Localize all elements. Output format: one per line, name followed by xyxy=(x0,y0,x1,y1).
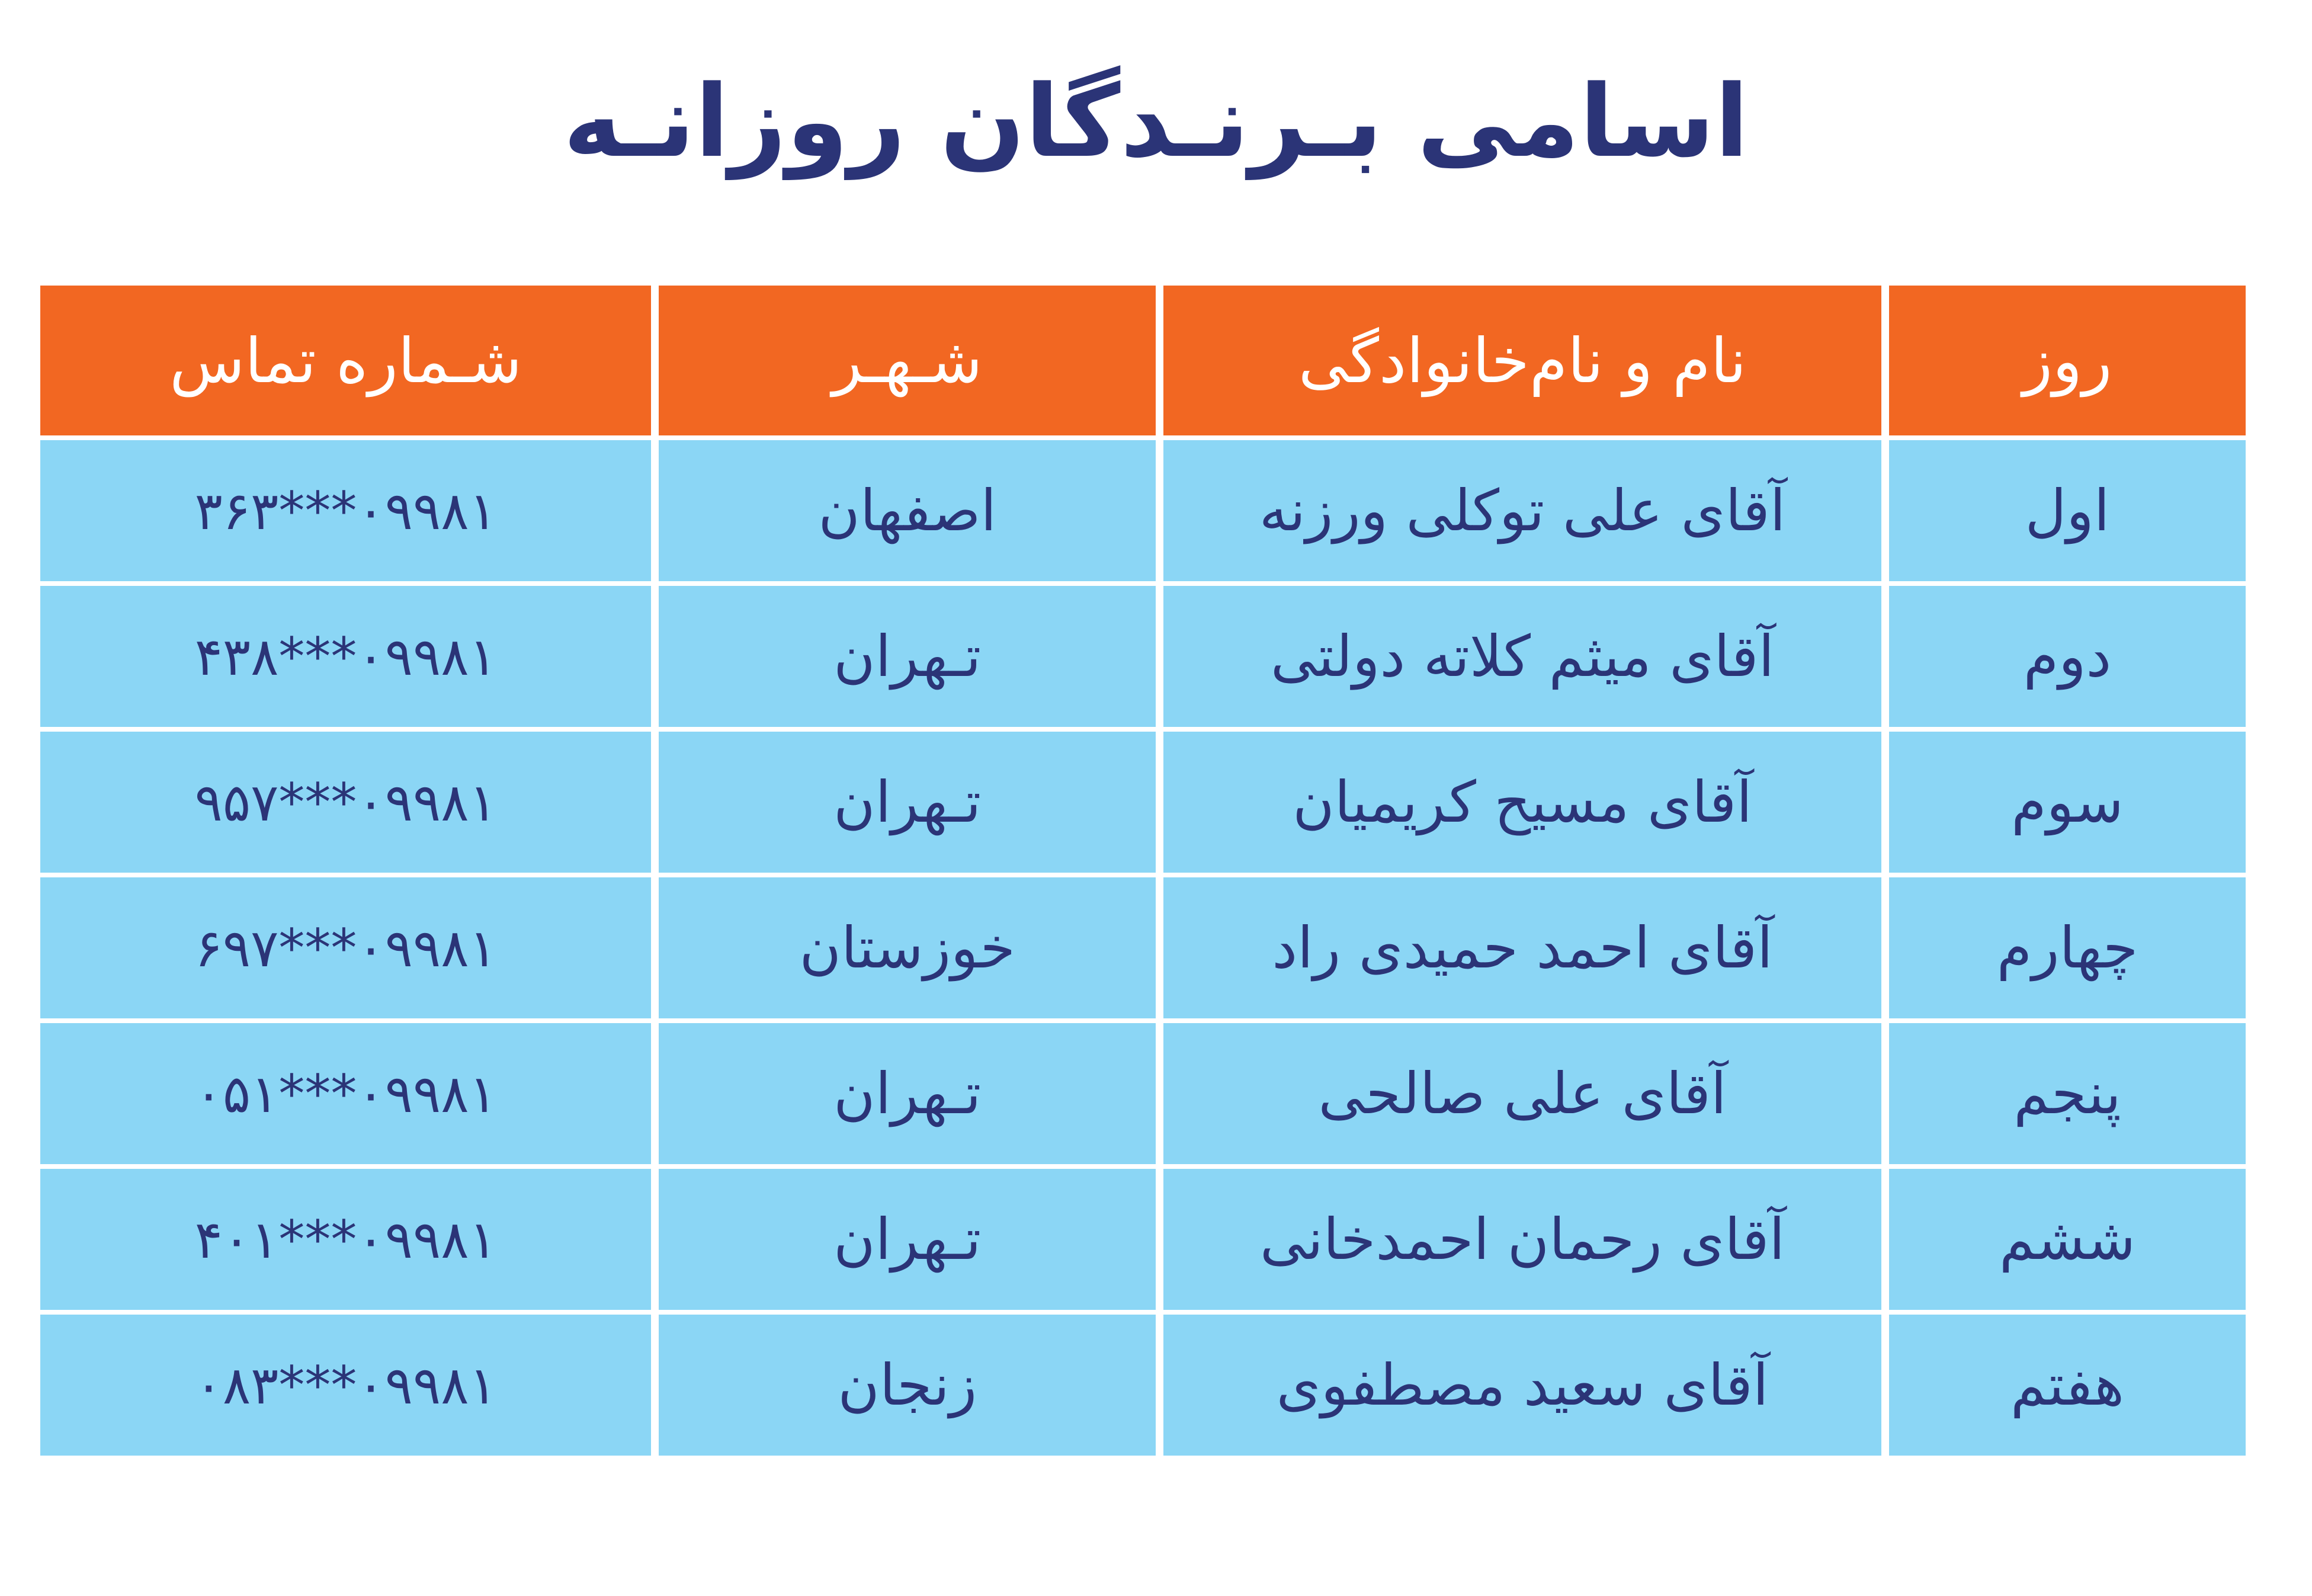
cell-city: تـهران xyxy=(659,1169,1156,1310)
column-header-city[interactable]: شـهـر xyxy=(659,286,1156,435)
cell-day: چهارم xyxy=(1889,877,2246,1018)
table-row: چهارمآقای احمد حمیدی رادخوزستان۰۹۹۸۱***۶… xyxy=(40,877,2246,1018)
column-header-day[interactable]: روز xyxy=(1889,286,2246,435)
cell-phone: ۰۹۹۸۱***۰۸۳ xyxy=(40,1315,651,1456)
cell-phone: ۰۹۹۸۱***۴۳۸ xyxy=(40,586,651,727)
table-row: دومآقای میثم کلاته دولتیتـهران۰۹۹۸۱***۴۳… xyxy=(40,586,2246,727)
daily-winners-table: روز نام و نام‌خانوادگی شـهـر شـماره تماس… xyxy=(33,281,2253,1460)
cell-phone: ۰۹۹۸۱***۰۵۱ xyxy=(40,1023,651,1164)
cell-phone: ۰۹۹۸۱***۹۵۷ xyxy=(40,732,651,873)
cell-city: تـهران xyxy=(659,1023,1156,1164)
table-row: پنجمآقای علی صالحیتـهران۰۹۹۸۱***۰۵۱ xyxy=(40,1023,2246,1164)
column-header-phone[interactable]: شـماره تماس xyxy=(40,286,651,435)
table-row: اولآقای علی توکلی ورزنهاصفهان۰۹۹۸۱***۳۶۳ xyxy=(40,440,2246,581)
cell-city: تـهران xyxy=(659,586,1156,727)
cell-city: تـهران xyxy=(659,732,1156,873)
table-row: هفتمآقای سعید مصطفویزنجان۰۹۹۸۱***۰۸۳ xyxy=(40,1315,2246,1456)
cell-name: آقای رحمان احمدخانی xyxy=(1163,1169,1881,1310)
cell-city: زنجان xyxy=(659,1315,1156,1456)
cell-name: آقای احمد حمیدی راد xyxy=(1163,877,1881,1018)
cell-day: هفتم xyxy=(1889,1315,2246,1456)
table-head: روز نام و نام‌خانوادگی شـهـر شـماره تماس xyxy=(40,286,2246,435)
cell-name: آقای علی صالحی xyxy=(1163,1023,1881,1164)
cell-name: آقای سعید مصطفوی xyxy=(1163,1315,1881,1456)
cell-day: سوم xyxy=(1889,732,2246,873)
cell-name: آقای مسیح کریمیان xyxy=(1163,732,1881,873)
cell-phone: ۰۹۹۸۱***۶۹۷ xyxy=(40,877,651,1018)
cell-day: پنجم xyxy=(1889,1023,2246,1164)
table-body: اولآقای علی توکلی ورزنهاصفهان۰۹۹۸۱***۳۶۳… xyxy=(40,440,2246,1456)
table-header-row: روز نام و نام‌خانوادگی شـهـر شـماره تماس xyxy=(40,286,2246,435)
cell-phone: ۰۹۹۸۱***۴۰۱ xyxy=(40,1169,651,1310)
cell-city: خوزستان xyxy=(659,877,1156,1018)
column-header-name[interactable]: نام و نام‌خانوادگی xyxy=(1163,286,1881,435)
cell-name: آقای میثم کلاته دولتی xyxy=(1163,586,1881,727)
cell-day: ششم xyxy=(1889,1169,2246,1310)
cell-phone: ۰۹۹۸۱***۳۶۳ xyxy=(40,440,651,581)
cell-day: اول xyxy=(1889,440,2246,581)
cell-day: دوم xyxy=(1889,586,2246,727)
table-row: سومآقای مسیح کریمیانتـهران۰۹۹۸۱***۹۵۷ xyxy=(40,732,2246,873)
table-row: ششمآقای رحمان احمدخانیتـهران۰۹۹۸۱***۴۰۱ xyxy=(40,1169,2246,1310)
cell-name: آقای علی توکلی ورزنه xyxy=(1163,440,1881,581)
cell-city: اصفهان xyxy=(659,440,1156,581)
page-title: اسامی بـرنـدگان روزانـه xyxy=(0,59,2312,184)
